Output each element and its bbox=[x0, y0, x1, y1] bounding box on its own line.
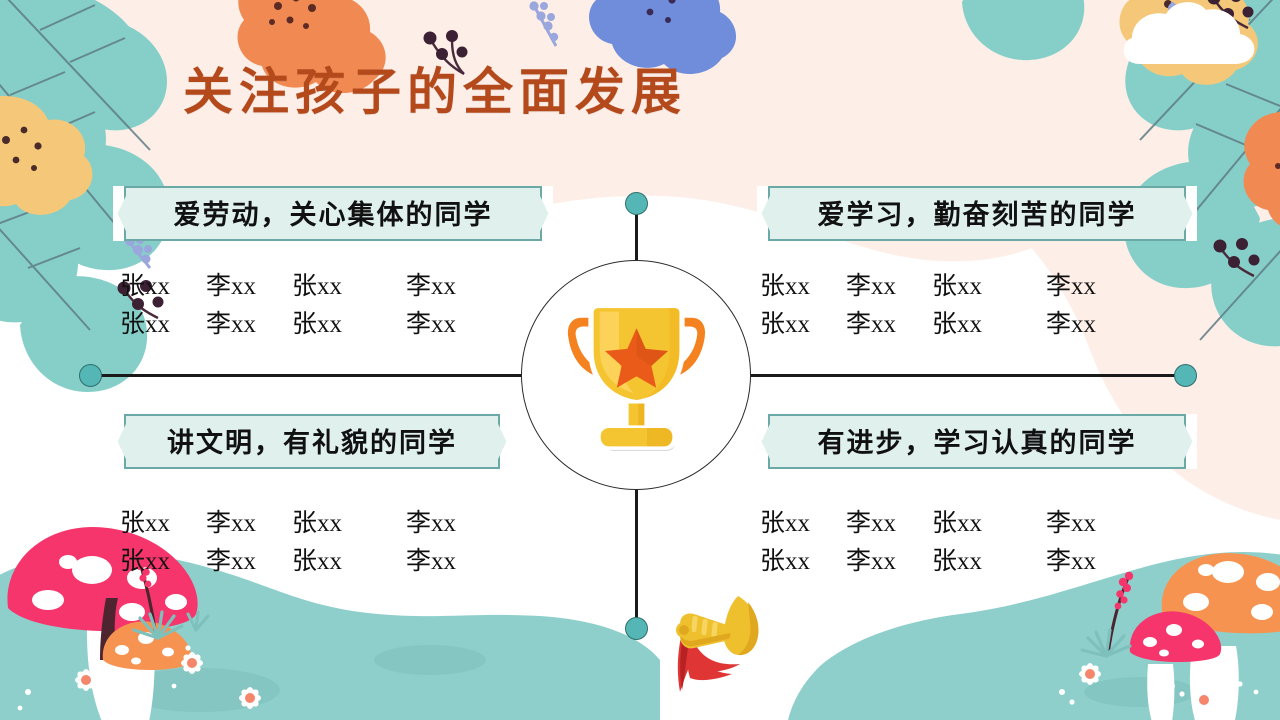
heading-text-bottom-right: 有进步，学习认真的同学 bbox=[818, 421, 1137, 460]
connector-dot-bottom bbox=[625, 617, 648, 640]
heading-text-top-left: 爱劳动，关心集体的同学 bbox=[174, 193, 493, 232]
name-item: 李xx bbox=[206, 543, 292, 581]
orange-flower bbox=[1244, 111, 1280, 237]
name-item: 张xx bbox=[760, 505, 846, 543]
name-item: 李xx bbox=[846, 268, 932, 306]
page-title: 关注孩子的全面发展 bbox=[0, 52, 1075, 124]
name-item: 李xx bbox=[1046, 543, 1096, 581]
sparkle-dots bbox=[18, 645, 191, 710]
center-medallion bbox=[521, 260, 751, 490]
name-item: 张xx bbox=[292, 505, 378, 543]
name-row: 张xx李xx张xx李xx bbox=[120, 268, 456, 306]
name-item: 张xx bbox=[120, 306, 206, 344]
white-daisy bbox=[75, 669, 98, 692]
heading-text-bottom-left: 讲文明，有礼貌的同学 bbox=[167, 421, 457, 460]
name-item: 李xx bbox=[1046, 268, 1096, 306]
name-item: 李xx bbox=[206, 306, 292, 344]
name-item: 张xx bbox=[120, 505, 206, 543]
trophy-stem bbox=[626, 401, 647, 427]
name-item: 张xx bbox=[932, 505, 1018, 543]
berry-cluster bbox=[1214, 238, 1260, 276]
name-item: 李xx bbox=[846, 306, 932, 344]
name-item: 李xx bbox=[206, 505, 292, 543]
name-row: 张xx李xx张xx李xx bbox=[760, 505, 1096, 543]
trophy-star-icon bbox=[549, 288, 724, 463]
berry-cluster bbox=[1208, 0, 1254, 28]
name-item: 李xx bbox=[406, 306, 456, 344]
grass-shade bbox=[120, 645, 486, 712]
name-item: 张xx bbox=[932, 268, 1018, 306]
heading-box-top-left: 爱劳动，关心集体的同学 bbox=[113, 186, 553, 241]
orange-mushroom bbox=[1162, 553, 1280, 720]
connector-dot-left bbox=[79, 364, 102, 387]
name-item: 李xx bbox=[846, 505, 932, 543]
name-list-bottom-left: 张xx李xx张xx李xx 张xx李xx张xx李xx bbox=[120, 505, 456, 581]
leaf-veins bbox=[1140, 0, 1280, 340]
pink-sprig bbox=[1082, 572, 1133, 656]
name-item: 李xx bbox=[206, 268, 292, 306]
sparkle-dots bbox=[1059, 681, 1258, 704]
name-item: 张xx bbox=[760, 268, 846, 306]
name-item: 李xx bbox=[406, 505, 456, 543]
name-item: 张xx bbox=[932, 543, 1018, 581]
name-item: 李xx bbox=[1046, 306, 1096, 344]
orange-mushroom bbox=[103, 621, 191, 720]
heading-box-bottom-right: 有进步，学习认真的同学 bbox=[757, 414, 1197, 469]
name-list-top-left: 张xx李xx张xx李xx 张xx李xx张xx李xx bbox=[120, 268, 456, 344]
name-item: 张xx bbox=[292, 543, 378, 581]
name-row: 张xx李xx张xx李xx bbox=[120, 505, 456, 543]
trumpet-with-ribbon-icon bbox=[660, 588, 790, 708]
name-item: 张xx bbox=[760, 543, 846, 581]
name-item: 张xx bbox=[120, 543, 206, 581]
lavender-sprig bbox=[1168, 2, 1197, 52]
yellow-flower bbox=[1120, 0, 1258, 85]
white-daisy bbox=[239, 687, 262, 710]
pink-mushroom bbox=[1130, 611, 1221, 720]
white-daisy bbox=[1193, 689, 1216, 712]
trumpet-body bbox=[676, 596, 759, 655]
name-item: 张xx bbox=[292, 306, 378, 344]
white-cloud bbox=[1124, 2, 1255, 64]
name-row: 张xx李xx张xx李xx bbox=[760, 543, 1096, 581]
white-daisy bbox=[1079, 663, 1102, 686]
name-row: 张xx李xx张xx李xx bbox=[760, 268, 1096, 306]
connector-dot-top bbox=[625, 192, 648, 215]
slide-canvas: 关注孩子的全面发展 bbox=[0, 0, 1280, 720]
trophy-base bbox=[596, 425, 677, 450]
name-item: 张xx bbox=[120, 268, 206, 306]
lavender-sprig bbox=[529, 1, 558, 46]
white-daisy bbox=[181, 652, 204, 675]
name-item: 李xx bbox=[846, 543, 932, 581]
name-list-top-right: 张xx李xx张xx李xx 张xx李xx张xx李xx bbox=[760, 268, 1096, 344]
name-item: 张xx bbox=[760, 306, 846, 344]
connector-dot-right bbox=[1174, 364, 1197, 387]
name-item: 李xx bbox=[1046, 505, 1096, 543]
name-row: 张xx李xx张xx李xx bbox=[120, 306, 456, 344]
name-item: 张xx bbox=[932, 306, 1018, 344]
name-item: 李xx bbox=[406, 543, 456, 581]
name-row: 张xx李xx张xx李xx bbox=[120, 543, 456, 581]
heading-text-top-right: 爱学习，勤奋刻苦的同学 bbox=[818, 193, 1137, 232]
name-row: 张xx李xx张xx李xx bbox=[760, 306, 1096, 344]
heading-box-top-right: 爱学习，勤奋刻苦的同学 bbox=[757, 186, 1197, 241]
name-list-bottom-right: 张xx李xx张xx李xx 张xx李xx张xx李xx bbox=[760, 505, 1096, 581]
name-item: 张xx bbox=[292, 268, 378, 306]
name-item: 李xx bbox=[406, 268, 456, 306]
grass-shade bbox=[1084, 677, 1196, 707]
heading-box-bottom-left: 讲文明，有礼貌的同学 bbox=[113, 414, 511, 469]
